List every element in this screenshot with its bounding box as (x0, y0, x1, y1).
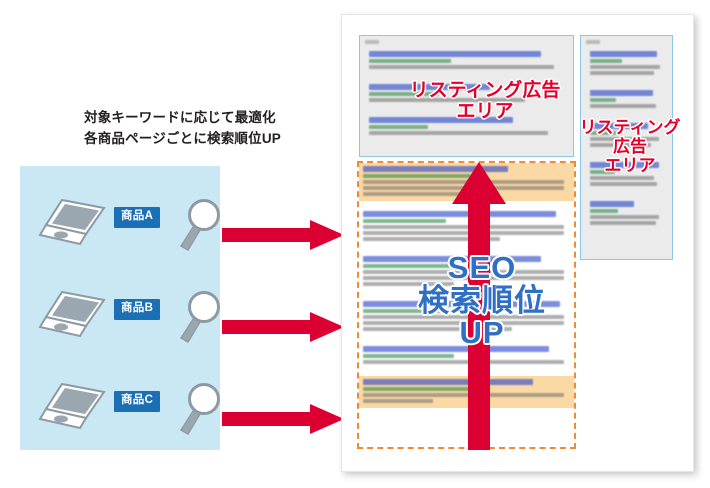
magnifier-icon (176, 288, 226, 346)
result-description (590, 221, 656, 225)
magnifier-icon (176, 380, 226, 438)
listing-ads-side-label: リスティング 広告 エリア (578, 118, 682, 175)
result-url (590, 209, 618, 213)
result-description (369, 65, 554, 69)
ad-result (586, 48, 667, 80)
product-chip: 商品C (114, 391, 160, 412)
result-description (590, 65, 660, 69)
result-description (590, 215, 659, 219)
result-url (590, 59, 622, 63)
result-description (590, 71, 654, 75)
product-chip: 商品B (114, 299, 160, 320)
result-title (363, 379, 533, 385)
magnifier-icon (176, 196, 226, 254)
arrow-right-icon (222, 218, 344, 252)
ads-tag (586, 40, 600, 44)
laptop-icon (36, 378, 110, 440)
product-panel: 商品A 商品B (20, 166, 220, 450)
result-url (369, 59, 451, 63)
laptop-icon (36, 194, 110, 256)
result-title (590, 51, 657, 57)
result-url (590, 98, 616, 102)
product-row: 商品B (20, 282, 220, 352)
result-url (363, 219, 446, 223)
ad-result (365, 48, 568, 74)
result-title (590, 90, 653, 96)
arrow-right-icon (222, 310, 344, 344)
arrow-right-icon (222, 402, 344, 436)
result-url (369, 125, 428, 129)
result-description (590, 176, 654, 180)
laptop-icon (36, 286, 110, 348)
result-title (369, 51, 541, 57)
result-description (590, 182, 657, 186)
result-title (590, 201, 634, 207)
ad-result (586, 87, 667, 113)
result-description (590, 104, 656, 108)
ad-result (586, 198, 667, 230)
result-description (363, 399, 433, 403)
ads-tag (365, 40, 379, 44)
diagram-canvas: 対象キーワードに応じて最適化 各商品ページごとに検索順位UP 商品A (0, 0, 710, 488)
listing-ads-top-label: リスティング広告 エリア (395, 80, 575, 123)
product-row: 商品C (20, 374, 220, 444)
result-url (363, 354, 454, 358)
product-row: 商品A (20, 190, 220, 260)
result-description (369, 131, 548, 135)
product-chip: 商品A (114, 207, 160, 228)
page-title: 対象キーワードに応じて最適化 各商品ページごとに検索順位UP (84, 108, 344, 150)
seo-rank-up-label: SEO 検索順位 UP (382, 252, 582, 350)
